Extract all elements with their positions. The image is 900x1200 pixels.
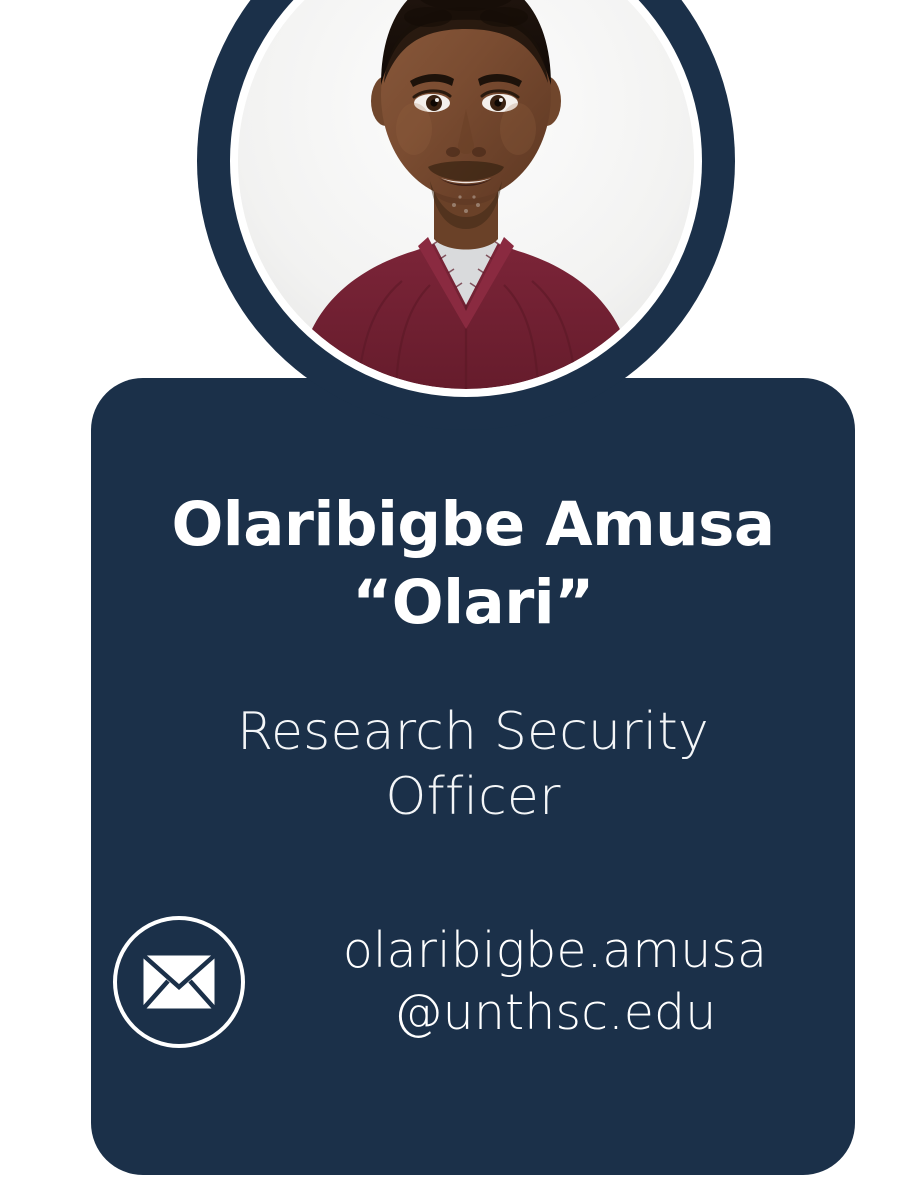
person-name-line-1: Olaribigbe Amusa	[171, 489, 774, 560]
avatar-ring	[197, 0, 735, 430]
person-name-line-2: “Olari”	[352, 567, 594, 638]
email-row[interactable]: olaribigbe.amusa @unthsc.edu	[113, 916, 843, 1048]
email-address[interactable]: olaribigbe.amusa @unthsc.edu	[267, 920, 843, 1043]
job-title: Research Security Officer	[143, 700, 803, 830]
email-domain-part: @unthsc.edu	[394, 984, 717, 1041]
avatar	[238, 0, 694, 389]
profile-card: Olaribigbe Amusa “Olari” Research Securi…	[0, 0, 900, 1200]
avatar-white-ring	[230, 0, 702, 397]
headshot-portrait-image	[238, 0, 694, 389]
person-name: Olaribigbe Amusa “Olari”	[113, 486, 833, 642]
envelope-icon[interactable]	[113, 916, 245, 1048]
email-local-part: olaribigbe.amusa	[343, 922, 767, 979]
